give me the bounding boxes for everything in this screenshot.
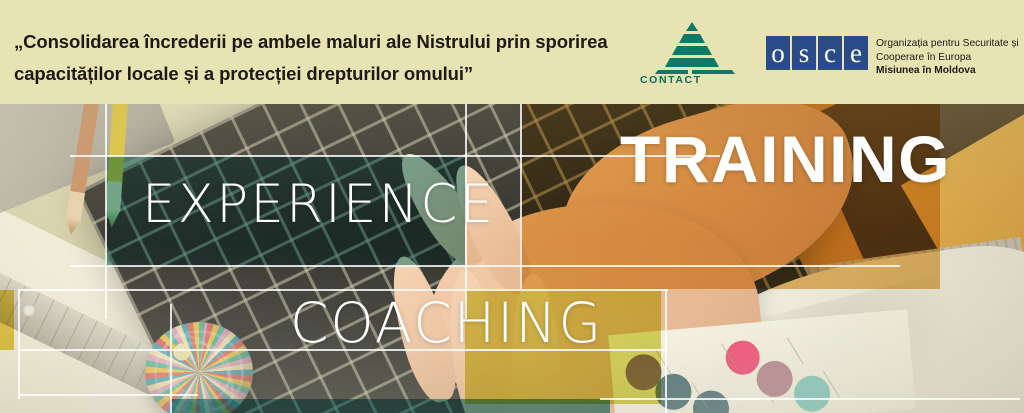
grid-line-vertical [170,304,172,413]
osce-letter-o: o [766,36,790,70]
banner-photo: EXPERIENCE TRAINING COACHING [0,104,1024,413]
word-coaching: COACHING [290,291,603,355]
osce-logo: o s c e Organizația pentru Securitate și… [766,36,1019,78]
grid-line-vertical [520,104,522,289]
osce-text-line1: Organizația pentru Securitate și [876,37,1019,51]
osce-letter-c: c [818,36,842,70]
overlay-block-teal-strip [170,399,610,413]
osce-letter-e: e [844,36,868,70]
training-banner: „Consolidarea încrederii pe ambele malur… [0,0,1024,413]
osce-letter-s: s [792,36,816,70]
osce-mark: o s c e [766,36,868,70]
contact-logo: CONTACT [636,22,748,86]
osce-text-line3: Misiunea în Moldova [876,64,1019,78]
contact-logo-label: CONTACT [640,74,702,86]
word-experience: EXPERIENCE [142,174,495,235]
grid-line-vertical [105,104,107,319]
osce-wordmark-text: Organizația pentru Securitate și Coopera… [876,36,1019,78]
osce-text-line2: Cooperare în Europa [876,51,1019,65]
header-bar: „Consolidarea încrederii pe ambele malur… [0,0,1024,104]
grid-line-horizontal [600,398,1020,400]
word-training: TRAINING [620,121,951,197]
page-title: „Consolidarea încrederii pe ambele malur… [14,26,614,90]
grid-line-horizontal [70,265,900,267]
pyramid-icon [636,22,748,74]
overlay-block-yellow [0,290,14,350]
grid-line-vertical [18,289,20,399]
grid-line-vertical [665,289,667,413]
